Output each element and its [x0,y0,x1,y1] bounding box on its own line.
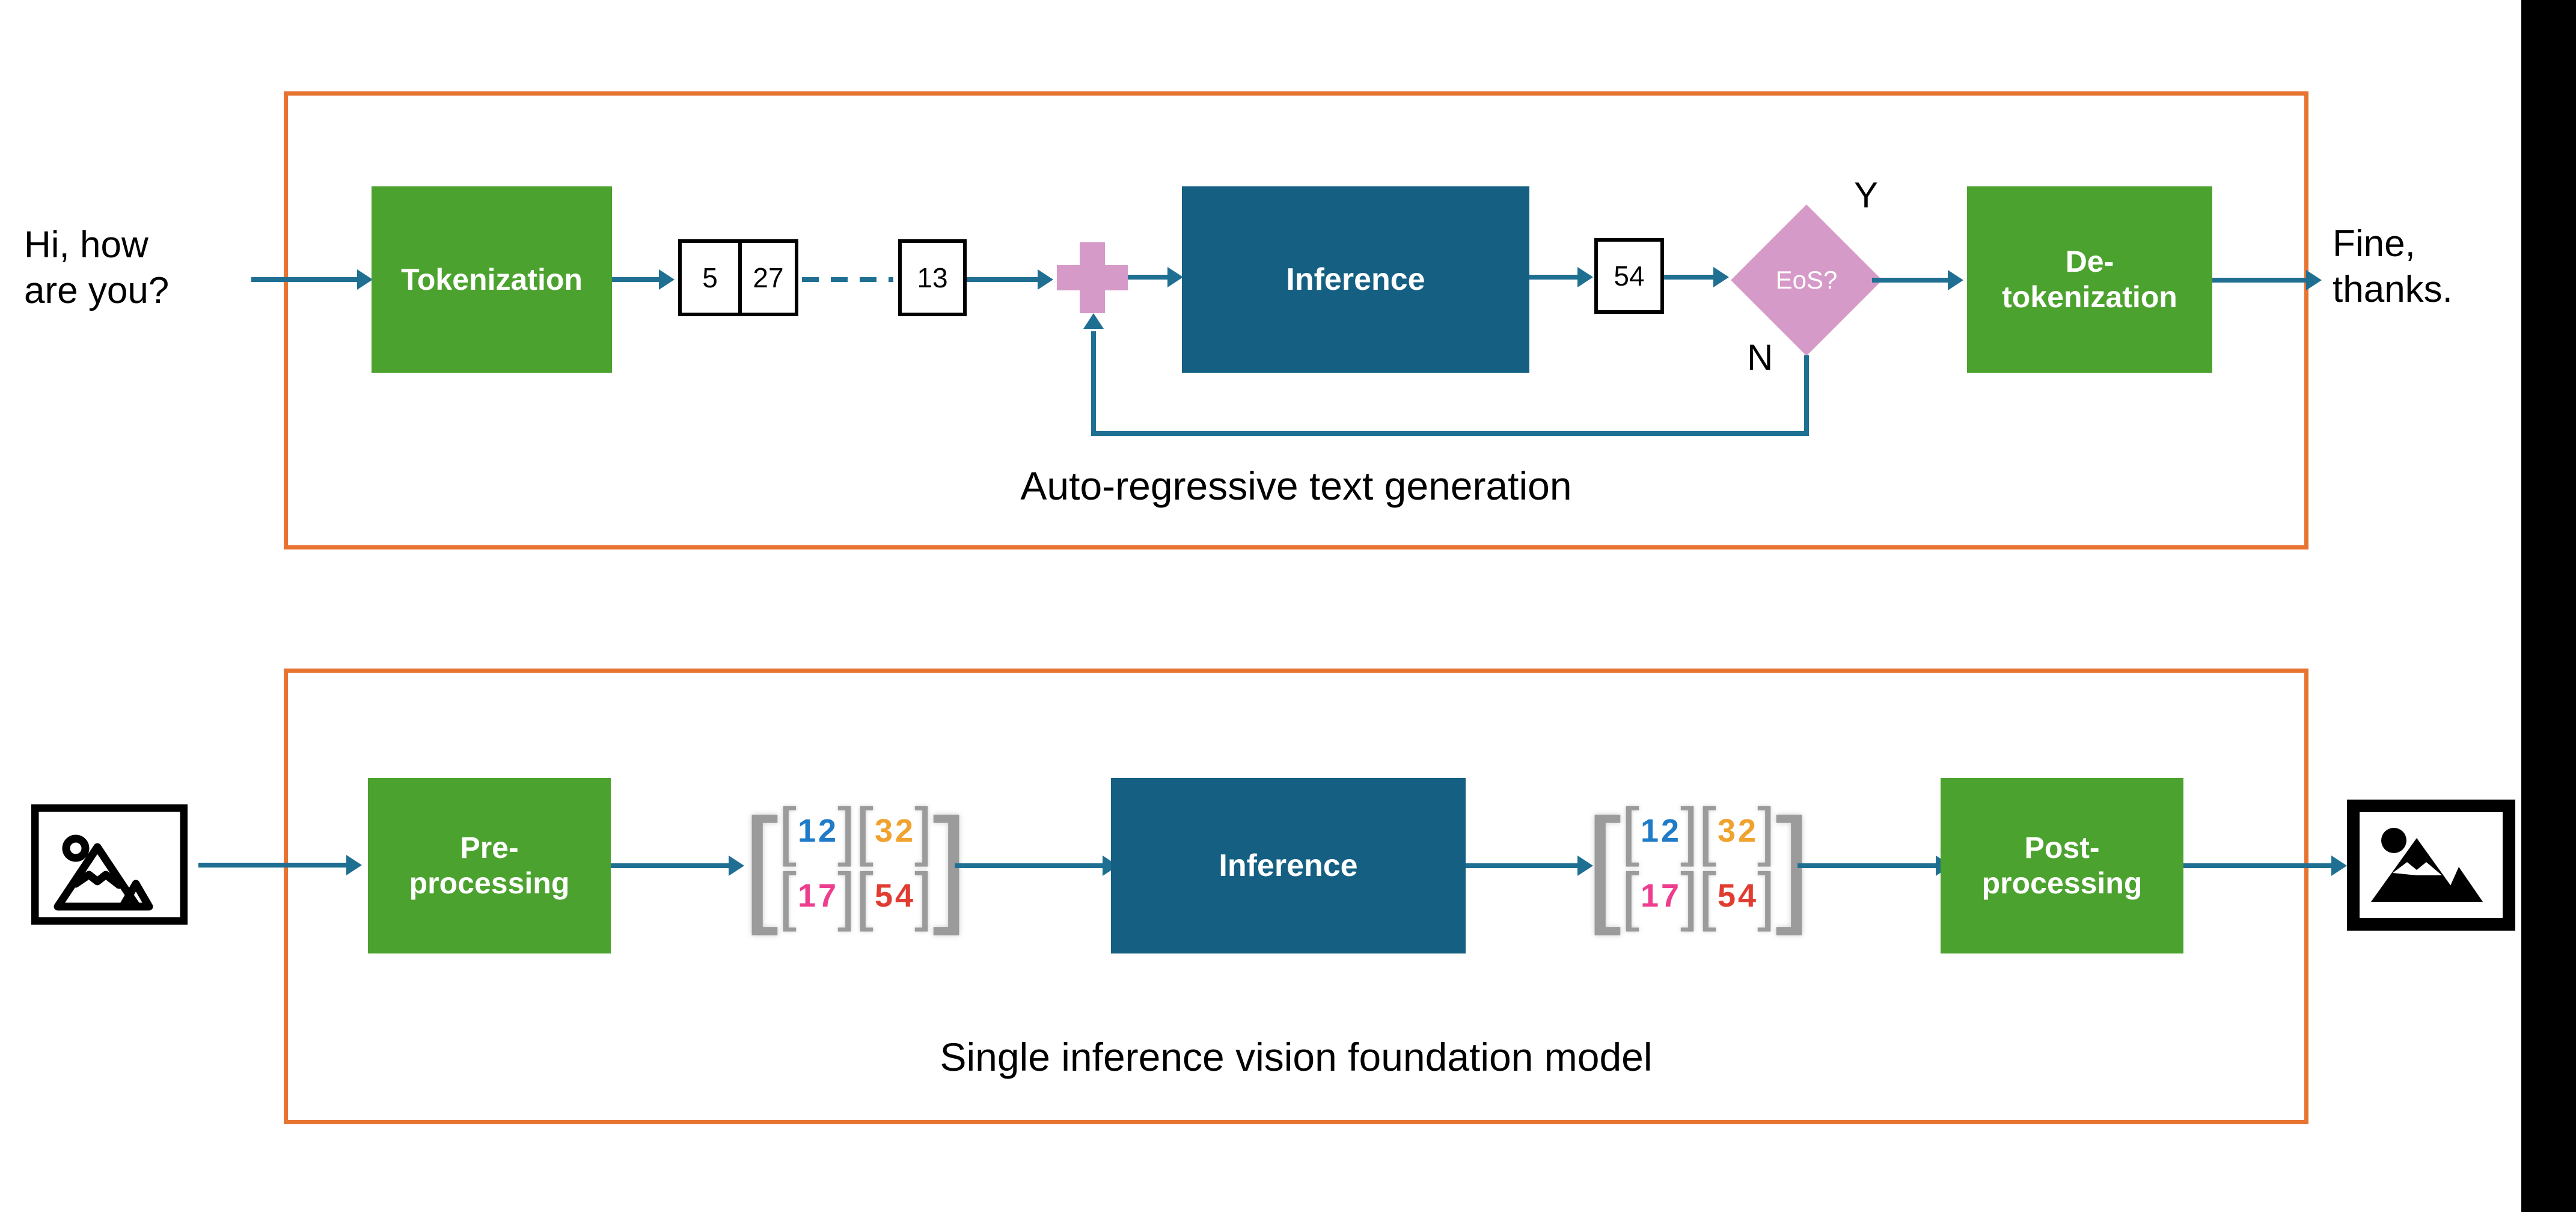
output-tensor-inner-close-bracket-3: ] [1680,863,1698,928]
text-output-response-line2: thanks. [2333,267,2525,313]
arrow-preprocessing-to-tensor-line [611,863,731,868]
preprocessing-box[interactable]: Pre- processing [368,778,611,953]
arrow-token-to-concat-head [1038,269,1053,290]
text-inference-box[interactable]: Inference [1182,186,1529,373]
input-tensor-row-0: [ 1 2 ] [ 3 2 ] [779,798,932,863]
output-tensor-value-0-1-0: 3 [1716,815,1737,847]
arrow-detokenization-to-output-head [2306,270,2322,290]
text-input-prompt: Hi, how are you? [24,222,265,313]
vision-pipeline-caption: Single inference vision foundation model [284,1034,2308,1080]
arrow-input-to-tokenization-line [251,277,359,282]
input-tensor-cell-1-0: [ 1 7 ] [779,863,855,928]
input-token-0: 5 [682,243,738,313]
output-tensor-cell-0-0: [ 1 2 ] [1621,798,1698,863]
input-tensor-inner-open-bracket-2: [ [855,798,873,863]
text-output-response-line1: Fine, [2333,221,2525,267]
output-tensor-inner-open-bracket-3: [ [1621,863,1639,928]
arrow-image-to-preprocessing-head [346,855,362,875]
input-tensor-inner-close-bracket-3: ] [837,863,855,928]
output-tensor-inner-open-bracket-2: [ [1698,798,1716,863]
output-tensor-value-0-0-0: 1 [1639,815,1660,847]
branch-label-yes: Y [1854,174,1878,216]
text-input-prompt-line2: are you? [24,268,265,314]
input-tensor-inner-open-bracket-4: [ [855,863,873,928]
arrow-concat-to-inference-head [1167,267,1183,287]
output-tensor-inner-close-bracket-2: ] [1757,798,1775,863]
token-sequence-dashed-connector [802,277,893,282]
preprocessing-label-line2: processing [409,866,570,901]
eos-decision-label: EoS? [1731,205,1882,355]
input-tensor-value-0-0-1: 2 [817,815,837,847]
postprocessing-label-line2: processing [1982,866,2143,901]
output-tensor-row-0: [ 1 2 ] [ 3 2 ] [1621,798,1775,863]
arrow-decision-to-detokenization-head [1948,270,1963,290]
output-tensor-cell-0-1: [ 3 2 ] [1698,798,1775,863]
feedback-loop-segment-up [1091,331,1096,433]
diagram-canvas: Hi, how are you? Tokenization 5 27 13 In… [0,0,2576,1212]
input-tensor-value-1-0-0: 1 [797,880,817,912]
output-tensor-rows: [ 1 2 ] [ 3 2 ] [ 1 7 ] [1621,798,1775,928]
arrow-tensor-to-vision-inference-line [955,863,1105,868]
arrow-concat-to-inference-line [1128,275,1173,280]
arrow-decision-to-detokenization-line [1872,278,1950,283]
output-tensor-inner-close-bracket-4: ] [1757,863,1775,928]
input-tensor-row-1: [ 1 7 ] [ 5 4 ] [779,863,932,928]
branch-label-no: N [1747,337,1773,378]
arrow-inference-to-output-token-head [1577,267,1593,287]
arrow-image-to-preprocessing-line [198,863,349,868]
arrow-detokenization-to-output-line [2212,278,2308,283]
detokenization-box[interactable]: De- tokenization [1967,186,2212,373]
output-tensor-inner-close-bracket: ] [1680,798,1698,863]
arrow-input-to-tokenization-head [357,269,373,290]
arrow-tokenization-to-tokens-head [659,269,675,290]
arrow-tokenization-to-tokens-line [612,277,661,282]
input-tensor-value-1-0-1: 7 [817,880,837,912]
arrow-token-to-concat-line [967,277,1040,282]
feedback-loop-segment-left [1091,431,1809,436]
output-tensor-value-0-0-1: 2 [1660,815,1680,847]
tokenization-box[interactable]: Tokenization [372,186,612,373]
input-tensor-value-1-1-1: 4 [894,880,914,912]
output-tensor-value-0-1-1: 2 [1737,815,1757,847]
input-tensor-inner-open-bracket: [ [779,798,797,863]
input-tensor: [ [ 1 2 ] [ 3 2 ] [ 1 [756,792,955,934]
output-tensor-row-1: [ 1 7 ] [ 5 4 ] [1621,863,1775,928]
arrow-postprocessing-to-image-head [2331,855,2347,876]
arrow-postprocessing-to-image-line [2183,863,2334,868]
input-tensor-value-0-1-1: 2 [894,815,914,847]
output-tensor-inner-open-bracket-4: [ [1698,863,1716,928]
concat-plus-bar-vertical [1080,242,1105,313]
output-tensor-cell-1-0: [ 1 7 ] [1621,863,1698,928]
postprocessing-label-line1: Post- [2025,830,2100,866]
preprocessing-label-line1: Pre- [460,830,518,866]
text-output-response: Fine, thanks. [2333,221,2525,312]
output-tensor-value-1-0-0: 1 [1639,880,1660,912]
arrow-output-token-to-decision-line [1664,275,1717,280]
input-tensor-rows: [ 1 2 ] [ 3 2 ] [ 1 7 ] [779,798,932,928]
output-tensor-value-1-0-1: 7 [1660,880,1680,912]
output-token: 54 [1594,238,1664,314]
input-tensor-cell-1-1: [ 5 4 ] [855,863,932,928]
arrow-vision-inference-to-tensor-line [1466,863,1580,868]
arrow-tensor-to-postprocessing-line [1797,863,1938,868]
image-outline-icon [31,804,188,925]
arrow-inference-to-output-token-line [1529,275,1581,280]
text-pipeline-caption: Auto-regressive text generation [284,463,2308,509]
input-tensor-inner-close-bracket-4: ] [914,863,932,928]
detokenization-label-line2: tokenization [2002,280,2177,315]
output-tensor: [ [ 1 2 ] [ 3 2 ] [ 1 [1599,792,1797,934]
feedback-loop-arrow-head [1083,313,1104,329]
output-tensor-value-1-1-0: 5 [1716,880,1737,912]
last-input-token: 13 [898,239,967,316]
image-filled-icon [2347,800,2515,931]
input-tensor-outer-open-bracket: [ [742,799,779,928]
input-tensor-value-0-1-0: 3 [873,815,894,847]
postprocessing-box[interactable]: Post- processing [1941,778,2183,953]
arrow-preprocessing-to-tensor-head [729,855,744,876]
feedback-loop-segment-down [1804,355,1809,436]
input-tensor-inner-close-bracket-2: ] [914,798,932,863]
input-tensor-cell-0-0: [ 1 2 ] [779,798,855,863]
input-tensor-inner-open-bracket-3: [ [779,863,797,928]
text-input-prompt-line1: Hi, how [24,222,265,268]
input-token-1: 27 [738,243,795,313]
output-tensor-value-1-1-1: 4 [1737,880,1757,912]
output-tensor-outer-open-bracket: [ [1585,799,1621,928]
input-tensor-value-1-1-0: 5 [873,880,894,912]
arrow-output-token-to-decision-head [1713,267,1729,287]
eos-decision[interactable]: EoS? [1731,205,1882,355]
vision-inference-box[interactable]: Inference [1111,778,1466,953]
input-tensor-cell-0-1: [ 3 2 ] [855,798,932,863]
input-tensor-inner-close-bracket: ] [837,798,855,863]
output-tensor-cell-1-1: [ 5 4 ] [1698,863,1775,928]
right-black-band [2521,0,2576,1212]
concat-plus-icon [1057,242,1128,313]
output-tensor-inner-open-bracket: [ [1621,798,1639,863]
detokenization-label-line1: De- [2066,244,2114,280]
input-token-pair: 5 27 [678,239,798,316]
input-tensor-value-0-0-0: 1 [797,815,817,847]
